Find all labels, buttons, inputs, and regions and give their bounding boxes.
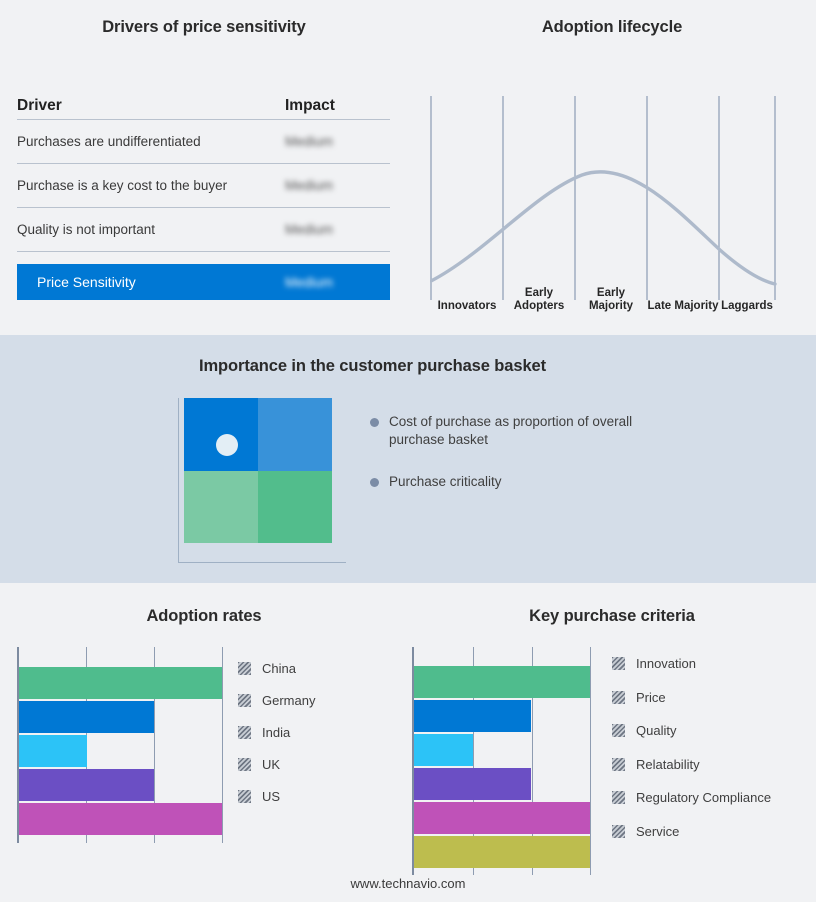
bar-row [19,735,222,767]
bar-row [19,667,222,699]
bullet-dot-icon [370,478,379,487]
legend-label: Purchase criticality [389,473,502,491]
bar-row [414,734,590,766]
legend-label: Relatability [636,757,700,772]
price-sensitivity-highlight-row: Price Sensitivity Medium [17,264,390,300]
lifecycle-bell-curve-path [431,172,775,284]
bar-row [19,803,222,835]
legend-item: India [238,725,290,740]
bar-service [414,836,590,868]
legend-swatch-icon [238,726,251,739]
drivers-table-header: Driver Impact [17,90,390,120]
bar-quality [414,734,473,766]
legend-swatch-icon [238,758,251,771]
legend-label: Quality [636,723,676,738]
bar-row [414,666,590,698]
legend-swatch-icon [238,662,251,675]
legend-item: Price [612,690,666,705]
bullet-dot-icon [370,418,379,427]
impact-value: Medium [285,178,390,193]
column-header-impact: Impact [285,97,390,115]
highlight-impact-value: Medium [285,275,390,290]
legend-swatch-icon [612,791,625,804]
column-header-driver: Driver [17,97,285,115]
quadrant-bottom-left [184,471,258,544]
adoption-rates-title: Adoption rates [0,607,408,626]
lifecycle-stage-label-late-majority: Late Majority [647,300,719,313]
bar-row [19,701,222,733]
driver-label: Quality is not important [17,222,285,237]
bar-price [414,700,531,732]
quadrant-top-right [258,398,332,471]
adoption-rates-plot [17,647,222,843]
legend-label: UK [262,757,280,772]
adoption-rates-panel: Adoption rates [0,583,408,902]
bar-india [19,735,87,767]
lifecycle-stage-label-innovators: Innovators [431,300,503,313]
key-purchase-criteria-panel: Key purchase criteria [408,583,816,902]
legend-label: China [262,661,296,676]
quadrant-bottom-right [258,471,332,544]
bar-us [19,803,222,835]
lifecycle-gridlines [431,96,775,300]
key-criteria-title: Key purchase criteria [408,607,816,626]
legend-swatch-icon [612,758,625,771]
bar-innovation [414,666,590,698]
legend-label: Innovation [636,656,696,671]
legend-item: Service [612,824,679,839]
legend-swatch-icon [238,790,251,803]
infographic-page: Drivers of price sensitivity Driver Impa… [0,0,816,902]
key-criteria-plot [412,647,590,875]
legend-item: US [238,789,280,804]
legend-item: Quality [612,723,676,738]
bar-row [414,700,590,732]
bottom-band: Adoption rates [0,583,816,902]
legend-swatch-icon [612,657,625,670]
lifecycle-stage-label-early-adopters: Early Adopters [503,287,575,313]
basket-legend: Cost of purchase as proportion of overal… [370,413,670,515]
legend-item: Germany [238,693,315,708]
bar-china [19,667,222,699]
key-criteria-legend: Innovation Price Quality Relatability Re… [612,656,812,856]
driver-label: Purchases are undifferentiated [17,134,285,149]
lifecycle-stage-label-early-majority: Early Majority [575,287,647,313]
legend-label: India [262,725,290,740]
impact-value: Medium [285,222,390,237]
gridline [222,647,223,843]
lifecycle-stage-label-laggards: Laggards [719,300,775,313]
legend-label: Cost of purchase as proportion of overal… [389,413,670,449]
legend-label: Regulatory Compliance [636,790,771,805]
quadrant-position-marker [216,434,238,456]
bar-germany [19,701,154,733]
basket-panel-title: Importance in the customer purchase bask… [0,357,745,376]
table-row: Purchases are undifferentiated Medium [17,120,390,164]
purchase-basket-band: Importance in the customer purchase bask… [0,335,816,583]
legend-swatch-icon [612,825,625,838]
table-row: Quality is not important Medium [17,208,390,252]
bar-row [414,836,590,868]
table-row: Purchase is a key cost to the buyer Medi… [17,164,390,208]
legend-swatch-icon [612,691,625,704]
legend-item: China [238,661,296,676]
impact-value: Medium [285,134,390,149]
legend-label: Service [636,824,679,839]
legend-label: US [262,789,280,804]
legend-item: Relatability [612,757,700,772]
bar-uk [19,769,154,801]
gridline [590,647,591,875]
adoption-rates-legend: China Germany India UK US [238,661,388,821]
legend-swatch-icon [612,724,625,737]
legend-item: Cost of purchase as proportion of overal… [370,413,670,449]
driver-label: Purchase is a key cost to the buyer [17,178,285,193]
bar-regulatory-compliance [414,802,590,834]
legend-label: Price [636,690,666,705]
legend-swatch-icon [238,694,251,707]
bar-relatability [414,768,531,800]
top-band: Drivers of price sensitivity Driver Impa… [0,0,816,335]
drivers-panel-title: Drivers of price sensitivity [0,18,408,37]
lifecycle-panel-title: Adoption lifecycle [408,18,816,37]
adoption-lifecycle-panel: Adoption lifecycle Innovators Early Adop… [408,0,816,335]
quadrant-grid [184,398,332,543]
quadrant-matrix [178,398,346,563]
bar-row [414,802,590,834]
legend-label: Germany [262,693,315,708]
bar-row [19,769,222,801]
legend-item: Innovation [612,656,696,671]
legend-item: Purchase criticality [370,473,670,491]
lifecycle-curve-svg [430,78,800,313]
legend-item: UK [238,757,280,772]
bar-row [414,768,590,800]
legend-item: Regulatory Compliance [612,790,771,805]
footer-url: www.technavio.com [0,876,816,891]
drivers-panel: Drivers of price sensitivity Driver Impa… [0,0,408,335]
drivers-table: Driver Impact Purchases are undifferenti… [17,90,390,300]
lifecycle-bell-curve-chart: Innovators Early Adopters Early Majority… [430,78,800,313]
highlight-driver-label: Price Sensitivity [37,274,285,290]
